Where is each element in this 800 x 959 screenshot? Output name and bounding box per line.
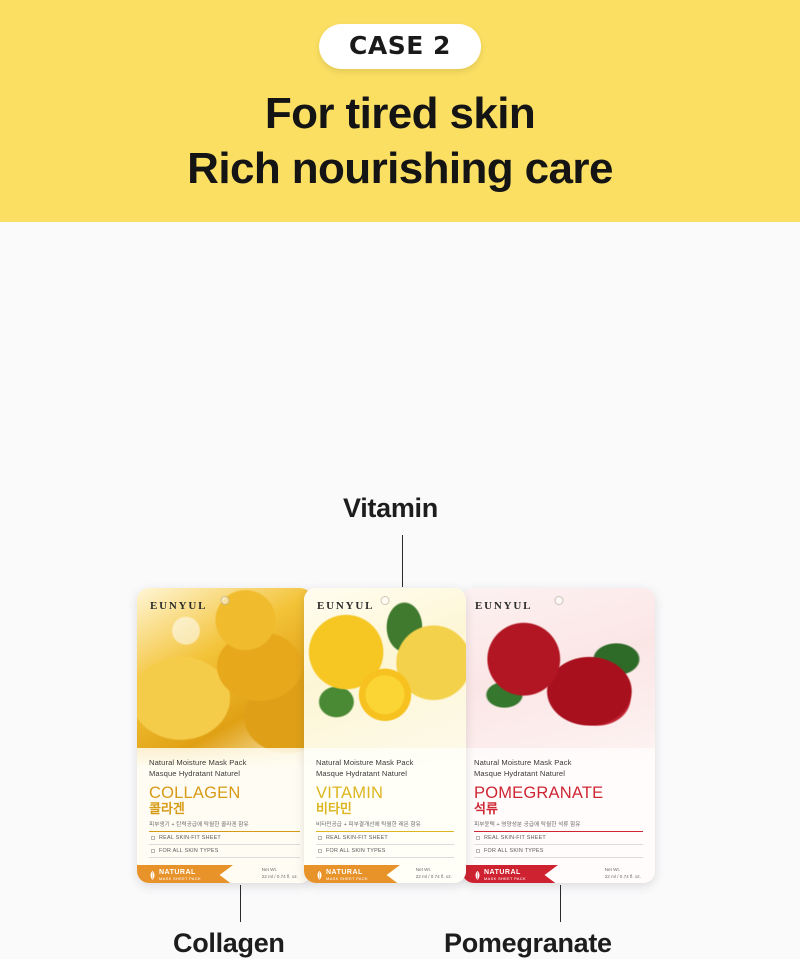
- product-package-collagen[interactable]: EUNYUL Natural Moisture Mask Pack Masque…: [137, 588, 312, 883]
- net-weight-pomegranate: Net Wt. 22 ml / 0.74 fl. oz.: [605, 867, 641, 881]
- product-photo-collagen: [137, 588, 312, 766]
- leaf-icon: [316, 870, 323, 881]
- package-footer-vitamin: NATURAL MASK SHEET PACK Net Wt. 22 ml / …: [316, 865, 454, 883]
- net-weight-vitamin: Net Wt. 22 ml / 0.74 fl. oz.: [416, 867, 452, 881]
- brand-logo-vitamin: EUNYUL: [317, 600, 374, 612]
- product-showcase: Vitamin EUNYUL Natural Moisture Mask Pac…: [0, 222, 800, 800]
- package-subtitle-en-collagen: Natural Moisture Mask Pack: [149, 758, 300, 769]
- headline-line-1: For tired skin: [0, 86, 800, 141]
- package-subtitle-fr-pomegranate: Masque Hydratant Naturel: [474, 769, 643, 780]
- package-feature: REAL SKIN-FIT SHEET: [474, 832, 643, 845]
- package-info-collagen: Natural Moisture Mask Pack Masque Hydrat…: [137, 748, 312, 883]
- package-footer-collagen: NATURAL MASK SHEET PACK Net Wt. 22 ml / …: [149, 865, 300, 883]
- brand-logo-pomegranate: EUNYUL: [475, 600, 532, 612]
- net-weight-value: 22 ml / 0.74 fl. oz.: [416, 874, 452, 881]
- leader-line-collagen: [240, 885, 241, 922]
- product-package-vitamin[interactable]: EUNYUL Natural Moisture Mask Pack Masque…: [304, 588, 466, 883]
- headline-line-2: Rich nourishing care: [0, 141, 800, 196]
- package-info-vitamin: Natural Moisture Mask Pack Masque Hydrat…: [304, 748, 466, 883]
- callout-label-pomegranate: Pomegranate: [444, 928, 612, 959]
- checkbox-icon: [318, 836, 322, 840]
- package-footer-pomegranate: NATURAL MASK SHEET PACK Net Wt. 22 ml / …: [474, 865, 643, 883]
- package-description-vitamin: 비타민공급 + 피부결개선에 탁월한 레몬 함유: [316, 820, 454, 828]
- case-badge-label: CASE 2: [349, 31, 451, 60]
- package-feature-label: FOR ALL SKIN TYPES: [159, 848, 219, 854]
- leader-line-vitamin: [402, 535, 403, 587]
- ribbon-main-label: NATURAL: [159, 869, 201, 876]
- checkbox-icon: [476, 849, 480, 853]
- page-title: For tired skin Rich nourishing care: [0, 86, 800, 196]
- callout-label-collagen: Collagen: [173, 928, 285, 959]
- package-feature: FOR ALL SKIN TYPES: [316, 845, 454, 858]
- product-package-pomegranate[interactable]: EUNYUL Natural Moisture Mask Pack Masque…: [462, 588, 655, 883]
- package-title-vitamin: VITAMIN: [316, 785, 454, 802]
- package-title-kr-collagen: 콜라겐: [149, 802, 300, 817]
- hang-hole-icon: [554, 596, 563, 605]
- natural-ribbon: NATURAL MASK SHEET PACK: [462, 865, 558, 883]
- package-subtitle-fr-vitamin: Masque Hydratant Naturel: [316, 769, 454, 780]
- ribbon-sub-label: MASK SHEET PACK: [484, 877, 526, 881]
- package-feature: FOR ALL SKIN TYPES: [149, 845, 300, 858]
- header-banner: CASE 2 For tired skin Rich nourishing ca…: [0, 0, 800, 222]
- package-title-collagen: COLLAGEN: [149, 785, 300, 802]
- leaf-icon: [474, 870, 481, 881]
- package-subtitle-en-pomegranate: Natural Moisture Mask Pack: [474, 758, 643, 769]
- package-description-collagen: 피부생기 + 탄력공급에 탁월한 콜라겐 함유: [149, 820, 300, 828]
- package-feature: REAL SKIN-FIT SHEET: [316, 832, 454, 845]
- package-subtitle-en-vitamin: Natural Moisture Mask Pack: [316, 758, 454, 769]
- ribbon-main-label: NATURAL: [484, 869, 526, 876]
- ribbon-sub-label: MASK SHEET PACK: [326, 877, 368, 881]
- checkbox-icon: [476, 836, 480, 840]
- package-title-kr-pomegranate: 석류: [474, 802, 643, 817]
- package-feature-label: FOR ALL SKIN TYPES: [326, 848, 386, 854]
- package-feature-label: FOR ALL SKIN TYPES: [484, 848, 544, 854]
- natural-ribbon: NATURAL MASK SHEET PACK: [304, 865, 400, 883]
- package-title-kr-vitamin: 비타민: [316, 802, 454, 817]
- package-feature: FOR ALL SKIN TYPES: [474, 845, 643, 858]
- natural-ribbon: NATURAL MASK SHEET PACK: [137, 865, 233, 883]
- checkbox-icon: [151, 849, 155, 853]
- product-photo-vitamin: [304, 588, 466, 766]
- package-info-pomegranate: Natural Moisture Mask Pack Masque Hydrat…: [462, 748, 655, 883]
- net-weight-label: Net Wt.: [262, 867, 298, 874]
- leader-line-pomegranate: [560, 885, 561, 922]
- net-weight-collagen: Net Wt. 22 ml / 0.74 fl. oz.: [262, 867, 298, 881]
- checkbox-icon: [318, 849, 322, 853]
- checkbox-icon: [151, 836, 155, 840]
- package-title-pomegranate: POMEGRANATE: [474, 785, 643, 802]
- package-feature-label: REAL SKIN-FIT SHEET: [159, 835, 221, 841]
- net-weight-value: 22 ml / 0.74 fl. oz.: [262, 874, 298, 881]
- package-feature-label: REAL SKIN-FIT SHEET: [484, 835, 546, 841]
- net-weight-label: Net Wt.: [605, 867, 641, 874]
- hang-hole-icon: [220, 596, 229, 605]
- package-feature-label: REAL SKIN-FIT SHEET: [326, 835, 388, 841]
- ribbon-main-label: NATURAL: [326, 869, 368, 876]
- ribbon-sub-label: MASK SHEET PACK: [159, 877, 201, 881]
- net-weight-label: Net Wt.: [416, 867, 452, 874]
- brand-logo-collagen: EUNYUL: [150, 600, 207, 612]
- package-subtitle-fr-collagen: Masque Hydratant Naturel: [149, 769, 300, 780]
- callout-label-vitamin: Vitamin: [343, 493, 438, 524]
- net-weight-value: 22 ml / 0.74 fl. oz.: [605, 874, 641, 881]
- case-badge: CASE 2: [319, 24, 481, 69]
- product-photo-pomegranate: [462, 588, 655, 766]
- package-description-pomegranate: 피부윤택 + 영양성분 공급에 탁월한 석류 함유: [474, 820, 643, 828]
- package-feature: REAL SKIN-FIT SHEET: [149, 832, 300, 845]
- leaf-icon: [149, 870, 156, 881]
- hang-hole-icon: [381, 596, 390, 605]
